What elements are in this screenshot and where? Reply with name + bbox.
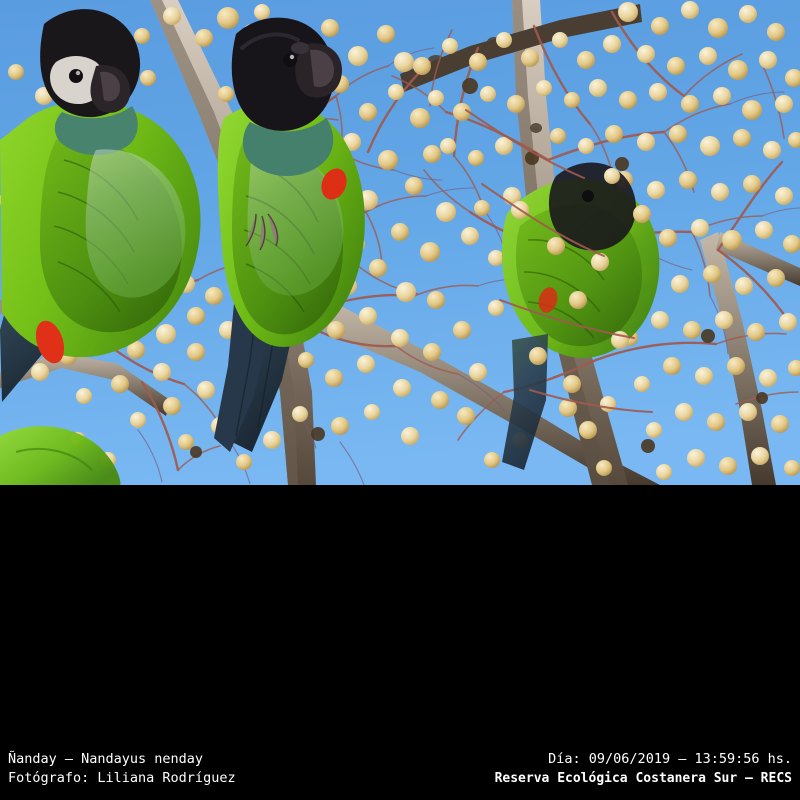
- footer-datetime-label: Día: 09/06/2019 — 13:59:56 hs.: [548, 752, 792, 767]
- bird-photograph: [0, 0, 800, 485]
- caption-panel: Ñanday Nenday Parakeet Aratinga nenday: [0, 485, 800, 730]
- footer-species-label: Ñanday — Nandayus nenday: [8, 752, 203, 767]
- footer-photographer-label: Fotógrafo: Liliana Rodríguez: [8, 771, 236, 786]
- species-photo-card: Ñanday Nenday Parakeet Aratinga nenday Ñ…: [0, 0, 800, 800]
- footer-location-label: Reserva Ecológica Costanera Sur — RECS: [495, 771, 792, 786]
- footer-metadata-bar: Ñanday — Nandayus nenday Fotógrafo: Lili…: [0, 730, 800, 800]
